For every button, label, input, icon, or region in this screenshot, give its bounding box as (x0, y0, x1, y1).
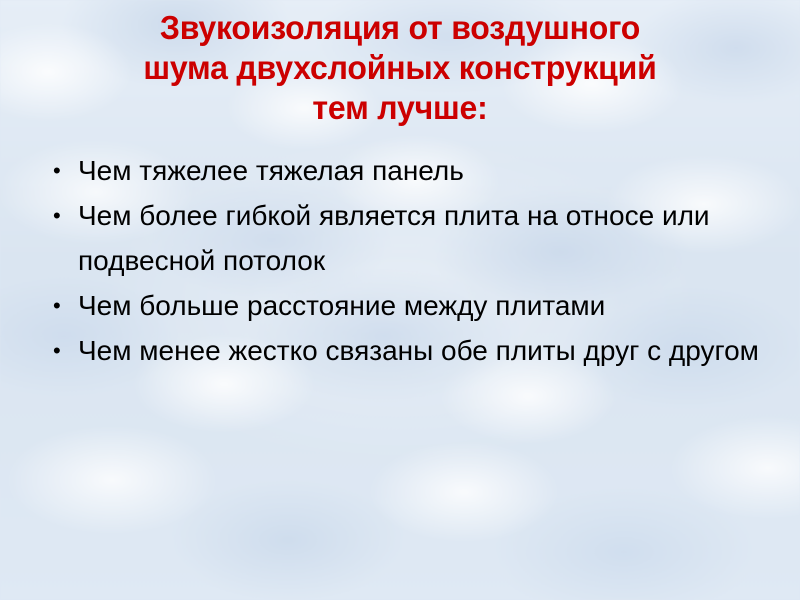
bullet-point-icon: • (53, 283, 61, 328)
slide-content: Звукоизоляция от воздушного шума двухсло… (0, 0, 800, 600)
list-item: • Чем больше расстояние между плитами (50, 283, 760, 328)
list-item-text: Чем более гибкой является плита на относ… (78, 193, 760, 283)
bullet-point-icon: • (53, 148, 61, 193)
title-line-3: тем лучше: (51, 88, 749, 128)
slide: Звукоизоляция от воздушного шума двухсло… (0, 0, 800, 600)
list-item-text: Чем тяжелее тяжелая панель (78, 148, 760, 193)
title-line-1: Звукоизоляция от воздушного (51, 8, 749, 48)
bullet-list: • Чем тяжелее тяжелая панель • Чем более… (50, 148, 760, 373)
title-line-2: шума двухслойных конструкций (51, 48, 749, 88)
list-item: • Чем тяжелее тяжелая панель (50, 148, 760, 193)
bullet-point-icon: • (53, 328, 61, 373)
slide-title: Звукоизоляция от воздушного шума двухсло… (51, 8, 749, 128)
list-item-text: Чем больше расстояние между плитами (78, 283, 760, 328)
bullet-point-icon: • (53, 193, 61, 238)
list-item-text: Чем менее жестко связаны обе плиты друг … (78, 328, 760, 373)
list-item: • Чем более гибкой является плита на отн… (50, 193, 760, 283)
list-item: • Чем менее жестко связаны обе плиты дру… (50, 328, 760, 373)
